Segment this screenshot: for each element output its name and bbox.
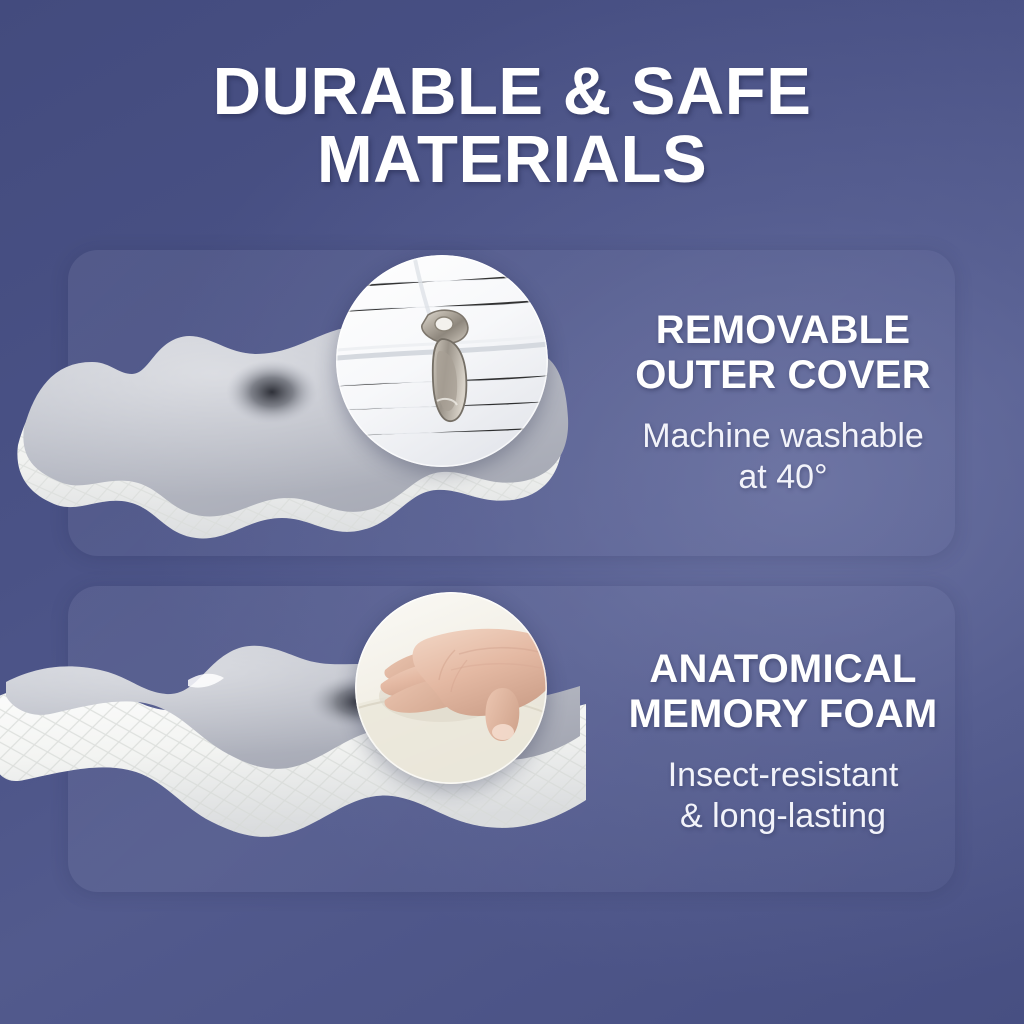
feature-heading-2-line-2: MEMORY FOAM (578, 692, 988, 737)
feature-text-removable-outer-cover: REMOVABLE OUTER COVER Machine washable a… (578, 308, 988, 498)
thumbnail (492, 724, 514, 740)
feature-heading-2-line-1: ANATOMICAL (578, 647, 988, 692)
page-title-line-1: DURABLE & SAFE (0, 58, 1024, 126)
page-title-line-2: MATERIALS (0, 126, 1024, 194)
feature-text-anatomical-memory-foam: ANATOMICAL MEMORY FOAM Insect-resistant … (578, 647, 988, 837)
page-title: DURABLE & SAFE MATERIALS (0, 58, 1024, 194)
memory-foam-detail-circle (355, 592, 547, 784)
hand-pressing-foam-illustration (355, 592, 547, 784)
zipper-detail-circle (336, 255, 548, 467)
feature-subtitle-line-1: Machine washable (578, 416, 988, 457)
feature-subtitle-2-line-2: & long-lasting (578, 796, 988, 837)
feature-subtitle-2-line-1: Insect-resistant (578, 755, 988, 796)
product-infographic: DURABLE & SAFE MATERIALS (0, 0, 1024, 1024)
feature-heading-line-1: REMOVABLE (578, 308, 988, 353)
feature-heading-line-2: OUTER COVER (578, 353, 988, 398)
zipper-closeup-illustration (336, 255, 548, 467)
feature-subtitle-line-2: at 40° (578, 457, 988, 498)
